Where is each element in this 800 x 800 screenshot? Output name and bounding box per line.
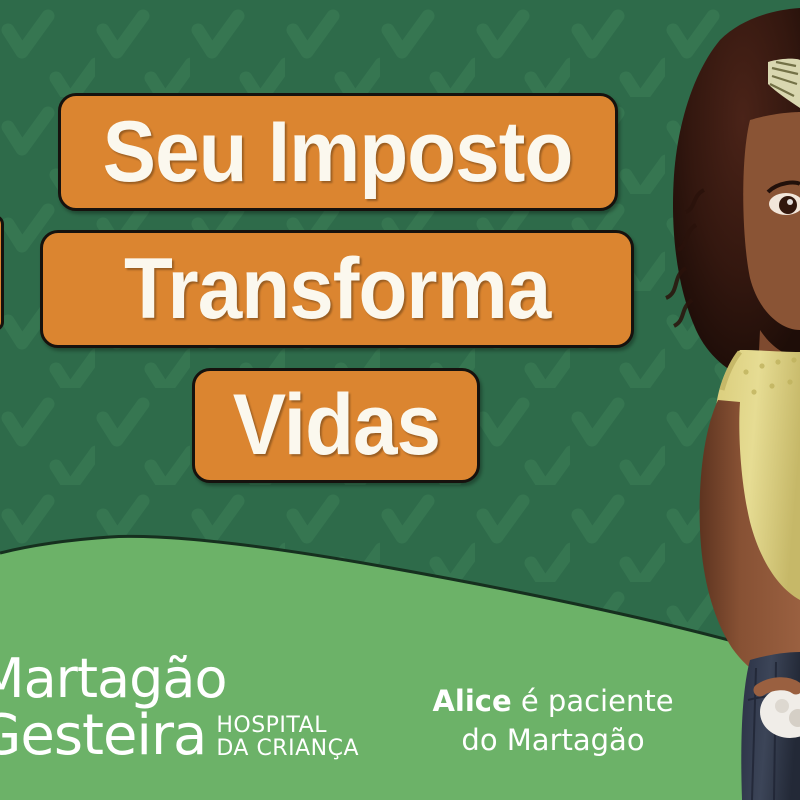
headline-text-3: Vidas (232, 376, 439, 475)
logo-subtitle-line-1: HOSPITAL (216, 714, 359, 737)
hand (760, 684, 796, 690)
logo-line-2: Gesteira (0, 708, 206, 764)
headline-banner-1: Seu Imposto (58, 93, 618, 211)
logo-row-2: Gesteira HOSPITAL DA CRIANÇA (0, 708, 378, 764)
caption-line-1-rest: é paciente (512, 684, 674, 718)
photo-caption: Alice é paciente do Martagão (408, 682, 698, 760)
logo-subtitle-line-2: DA CRIANÇA (216, 737, 359, 760)
caption-patient-name: Alice (432, 684, 511, 718)
campaign-poster: Seu Imposto Transforma Vidas Martagão Ge… (0, 0, 800, 800)
caption-line-2: do Martagão (408, 721, 698, 760)
headline-banner-2: Transforma (40, 230, 634, 348)
patient-photo (600, 0, 800, 800)
headline-text-2: Transforma (124, 240, 550, 339)
headline-banner-3: Vidas (192, 368, 480, 483)
headline-text-1: Seu Imposto (103, 103, 573, 202)
banner-edge-sliver (0, 215, 4, 331)
logo-subtitle: HOSPITAL DA CRIANÇA (216, 714, 359, 760)
logo-line-1: Martagão (0, 652, 378, 706)
hospital-logo: Martagão Gesteira HOSPITAL DA CRIANÇA (0, 652, 378, 764)
